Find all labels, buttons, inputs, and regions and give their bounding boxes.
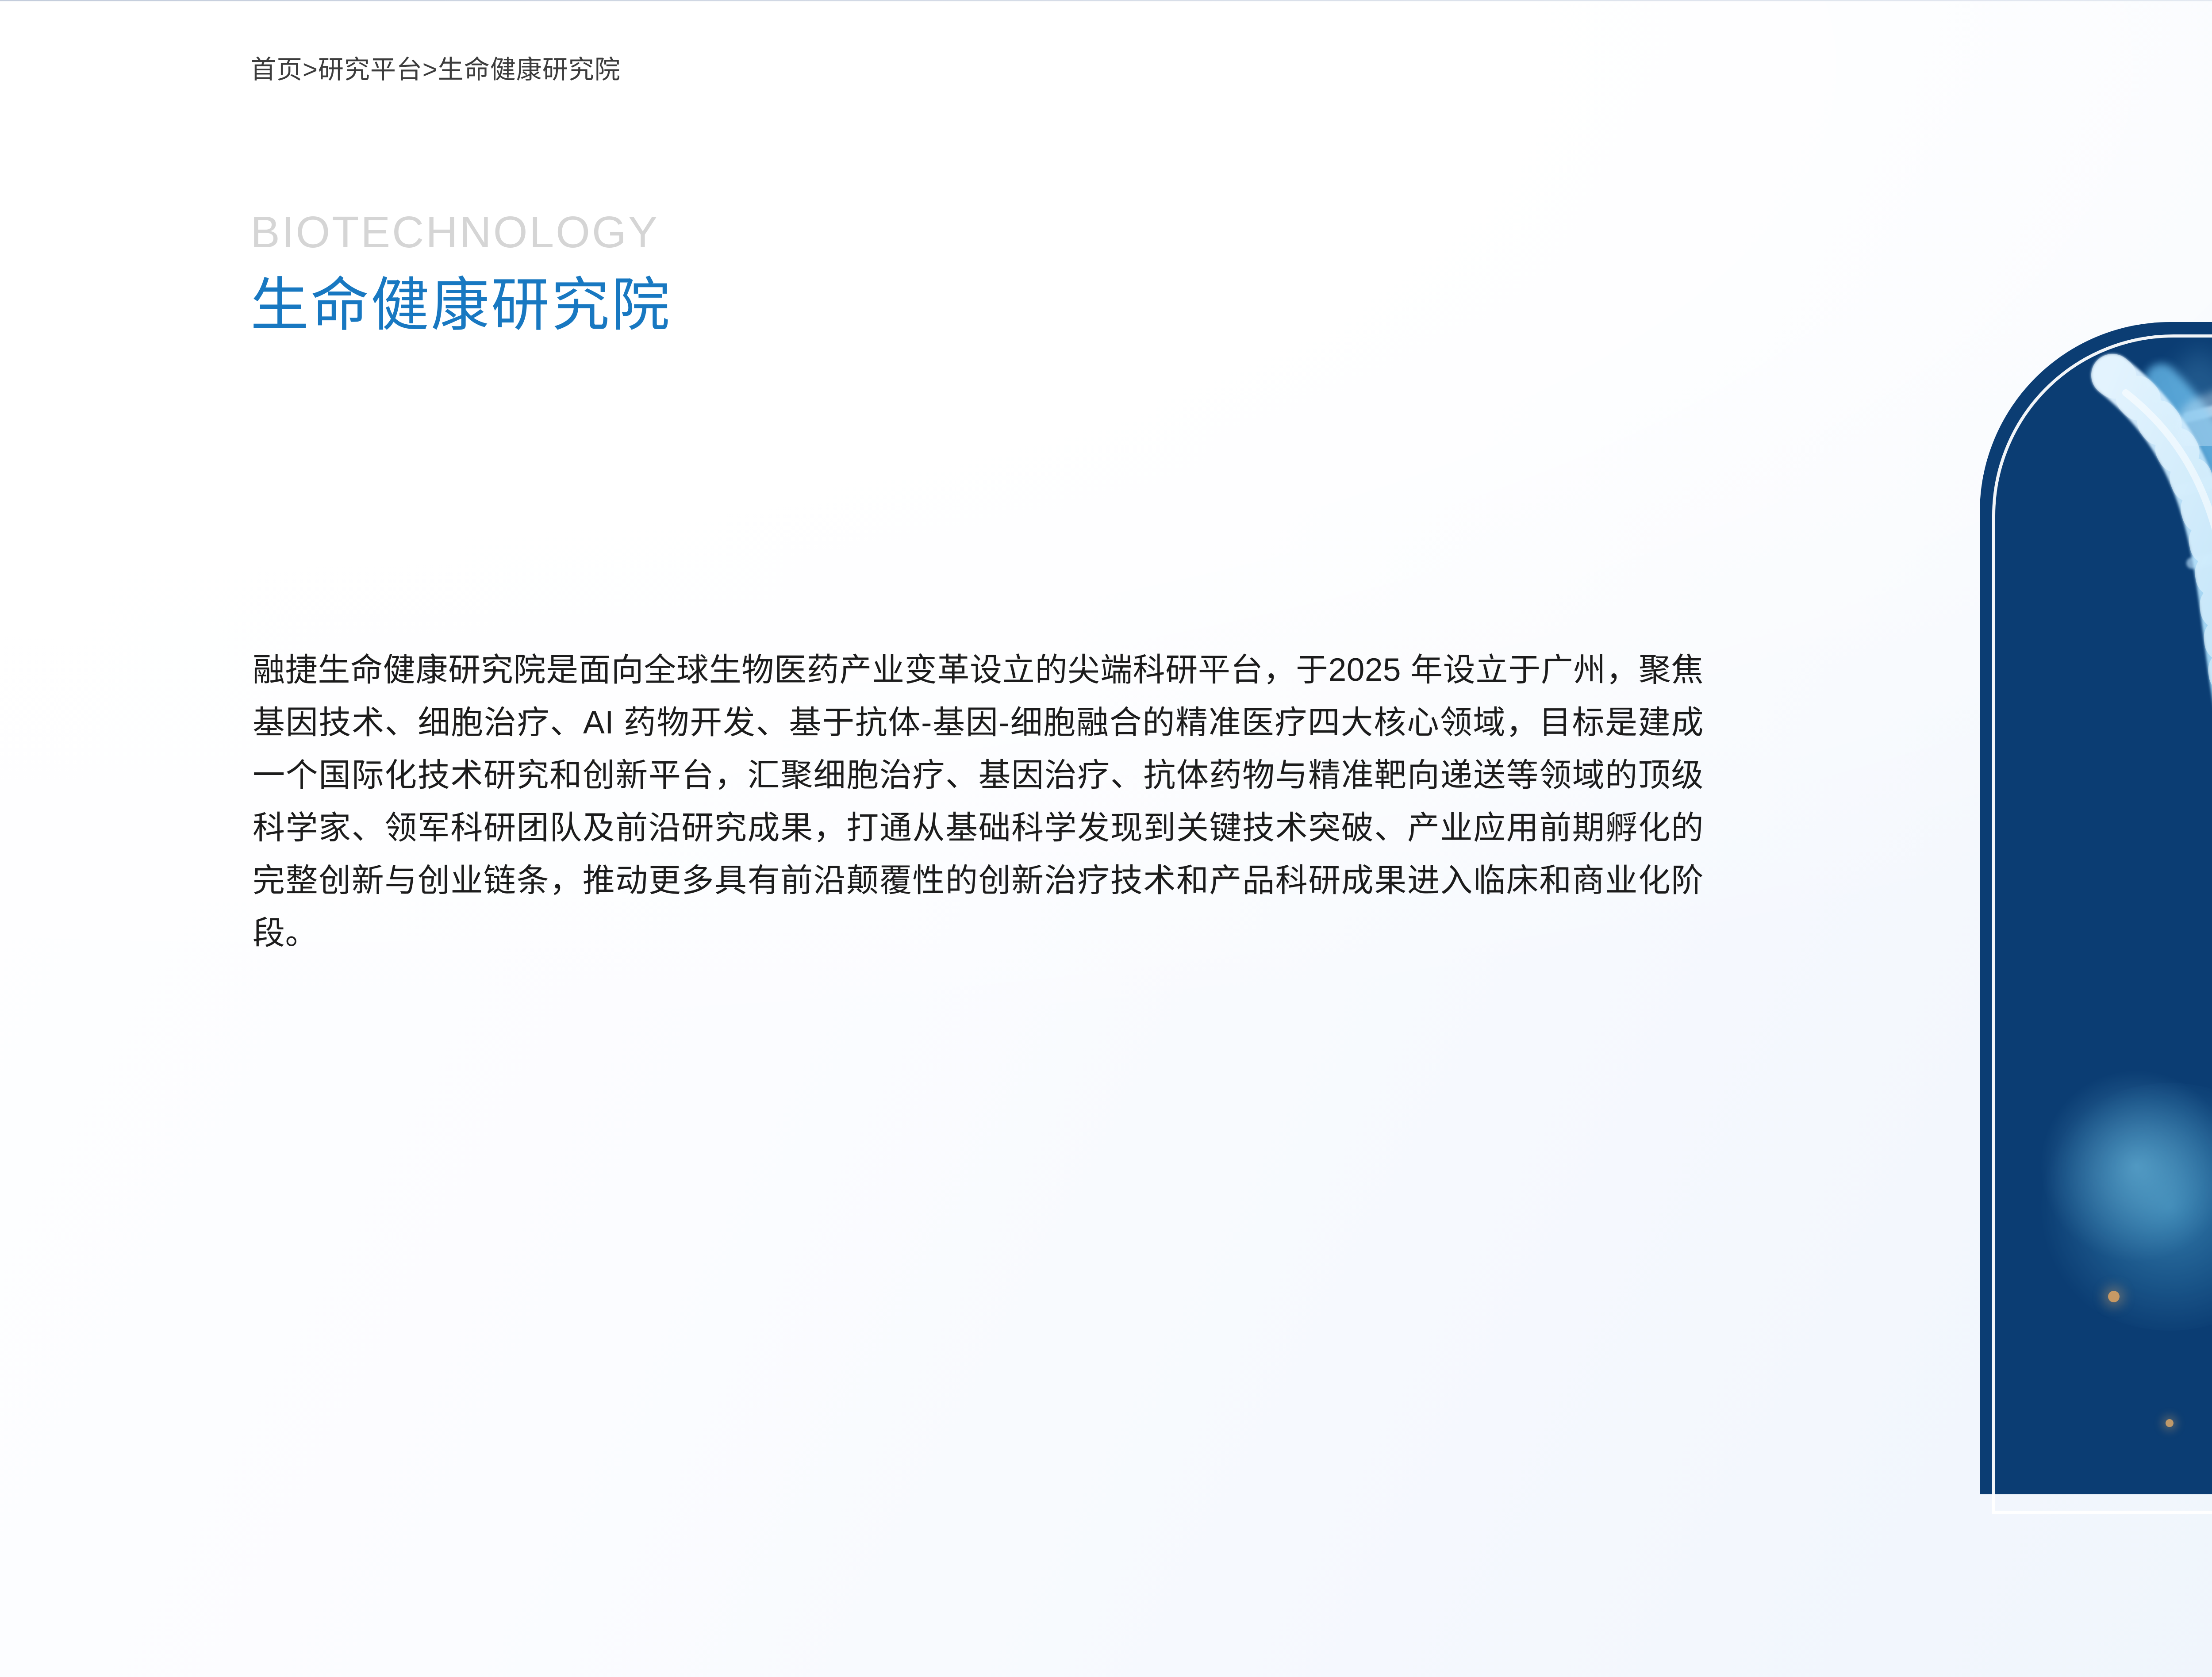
- hero-figure: 蓝色 DNA 双螺旋结构示意图: [1980, 322, 2212, 1494]
- particle-speck: [2166, 1419, 2174, 1427]
- breadcrumb[interactable]: 首页>研究平台>生命健康研究院: [250, 53, 621, 86]
- dna-helix-icon: [1980, 322, 2212, 1494]
- top-edge-hairline: [0, 0, 2212, 1]
- dna-image-frame: [1980, 322, 2212, 1494]
- intro-paragraph-block: 融捷生命健康研究院是面向全球生物医药产业变革设立的尖端科研平台，于2025 年设…: [253, 644, 1704, 959]
- page-eyebrow-biotechnology: BIOTECHNOLOGY: [250, 210, 659, 254]
- particle-speck: [2108, 1291, 2120, 1302]
- intro-paragraph: 融捷生命健康研究院是面向全球生物医药产业变革设立的尖端科研平台，于2025 年设…: [253, 644, 1704, 959]
- page-title: 生命健康研究院: [250, 271, 672, 340]
